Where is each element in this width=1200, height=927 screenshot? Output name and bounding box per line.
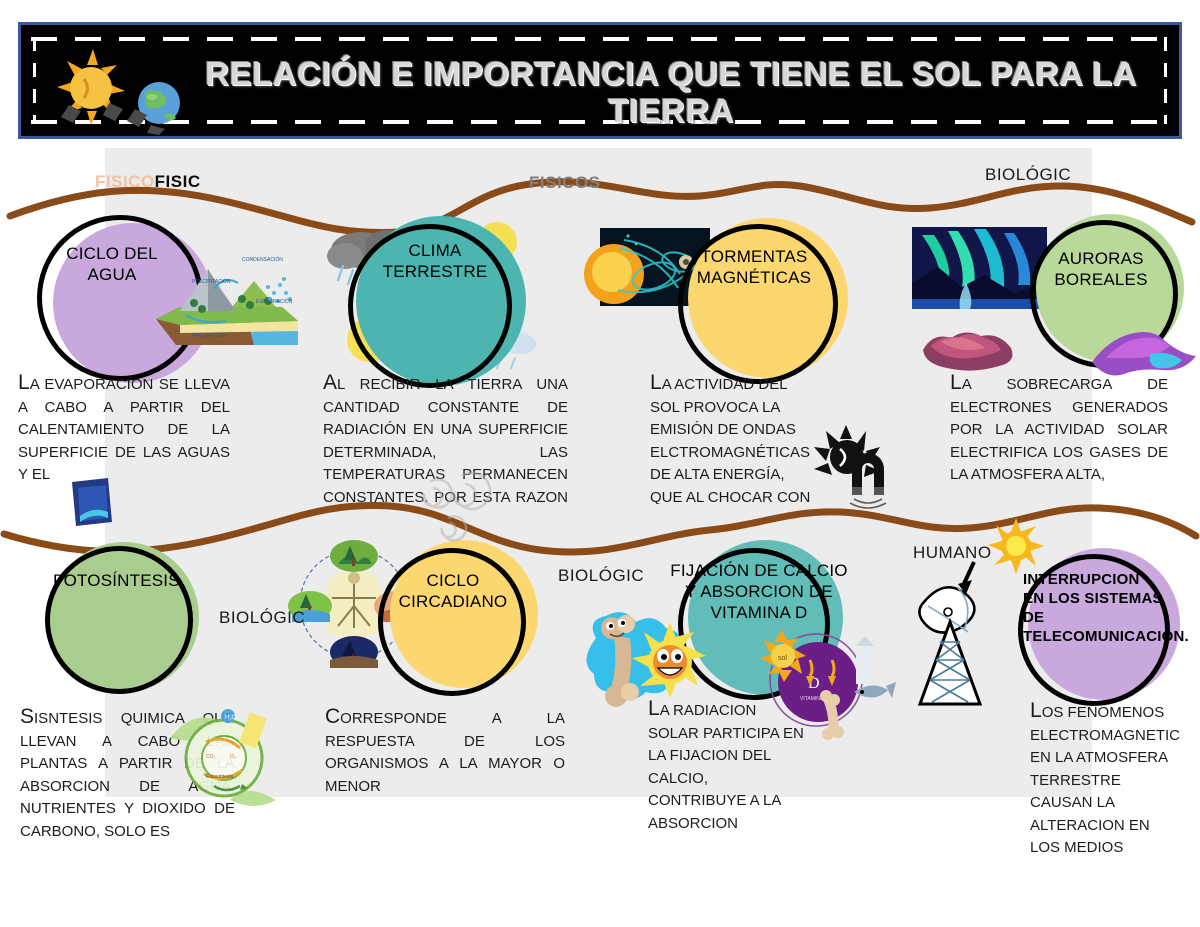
category-text-fisic-black: FISIC [155, 172, 201, 191]
photosynthesis-diagram-icon: H₂O CO₂O₂ Fotosíntesis [168, 700, 278, 810]
svg-text:CO₂: CO₂ [206, 754, 216, 760]
season-photo-bottom [330, 636, 378, 668]
banner-dashed-border-left [33, 37, 36, 124]
infographic-poster: RELACIÓN E IMPORTANCIA QUE TIENE EL SOL … [0, 0, 1200, 927]
svg-text:Fotosíntesis: Fotosíntesis [206, 774, 233, 780]
magnet-sun-icon [812, 425, 890, 505]
topic-body-fijacion-calcio: LA RADIACION SOLAR PARTICIPA EN LA FIJAC… [648, 698, 808, 874]
topic-label-fotosintesis: FOTOSÍNTESIS [53, 570, 178, 591]
banner-dashed-border-top [31, 37, 1169, 41]
svg-text:CONDENSACIÓN: CONDENSACIÓN [242, 256, 283, 263]
topic-label-ciclo-circadiano: CICLO CIRCADIANO [392, 570, 514, 612]
satellite-dish-icon [919, 587, 974, 632]
topic-label-clima-terrestre: CLIMA TERRESTRE [380, 240, 490, 282]
topic-body-ciclo-circadiano: CORRESPONDE A LA RESPUESTA DE LOS ORGANI… [325, 706, 565, 798]
category-text-fisico-pale: FISICO [95, 172, 155, 191]
aurora-photo-icon [912, 227, 1047, 309]
svg-text:O₂: O₂ [230, 754, 236, 760]
topic-label-tormentas-magneticas: TORMENTAS MAGNÉTICAS [694, 246, 814, 288]
category-label-biologic-bottom-middle: BIOLÓGIC [558, 566, 644, 586]
svg-text:INFILTRACIÓN: INFILTRACIÓN [192, 332, 227, 339]
milk-carton-icon [856, 636, 874, 684]
category-label-biologic-top-right: BIOLÓGIC [985, 165, 1071, 185]
swirl-decoration-icon [400, 450, 510, 540]
page-title: RELACIÓN E IMPORTANCIA QUE TIENE EL SOL … [171, 55, 1171, 129]
topic-label-auroras-boreales: AURORAS BOREALES [1036, 248, 1166, 290]
topic-bubble-fotosintesis[interactable]: FOTOSÍNTESIS [45, 540, 205, 700]
category-label-fisicos: FISICOS [529, 173, 601, 193]
topic-bubble-tormentas-magneticas[interactable]: TORMENTAS MAGNÉTICAS [670, 218, 850, 398]
svg-text:PRECIPITACIÓN: PRECIPITACIÓN [192, 278, 231, 285]
svg-text:H₂O: H₂O [225, 715, 237, 721]
sun-bright-icon [988, 518, 1044, 574]
header-banner: RELACIÓN E IMPORTANCIA QUE TIENE EL SOL … [18, 22, 1182, 139]
topic-body-interrupcion-telecomunicaciones: LOS FENOMENOS ELECTROMAGNETICOS EN LA AT… [1030, 700, 1180, 886]
bubble-outline-fotosintesis [45, 546, 193, 694]
topic-bubble-ciclo-circadiano[interactable]: CICLO CIRCADIANO [378, 540, 558, 715]
radio-tower-icon [920, 622, 980, 704]
fish-icon [854, 682, 896, 698]
category-label-fisico: FISICOFISIC [95, 172, 201, 192]
season-photo-top [330, 540, 378, 572]
book-cover-icon [68, 478, 114, 526]
category-label-humano: HUMANO [913, 543, 992, 563]
topic-body-tormentas-magneticas: LA ACTIVIDAD DEL SOL PROVOCA LA EMISIÓN … [650, 372, 820, 504]
svg-text:sol: sol [778, 655, 787, 662]
topic-label-interrupcion-telecomunicaciones: INTERRUPCION EN LOS SISTEMAS DE TELECOMU… [1023, 570, 1165, 646]
aurora-ribbon-icon [1088, 318, 1200, 378]
aurora-cloud-small-icon [915, 320, 1020, 372]
category-label-biologic-bottom-left: BIOLÓGIC [219, 608, 305, 628]
svg-text:EVAPORACIÓN: EVAPORACIÓN [256, 298, 293, 305]
water-cycle-diagram-icon: CONDENSACIÓN PRECIPITACIÓN EVAPORACIÓN I… [150, 245, 300, 355]
topic-body-auroras-boreales: LA SOBRECARGA DE ELECTRONES GENERADOS PO… [950, 372, 1168, 504]
topic-body-ciclo-del-agua: LA EVAPORACION SE LLEVA A CABO A PARTIR … [18, 372, 230, 502]
